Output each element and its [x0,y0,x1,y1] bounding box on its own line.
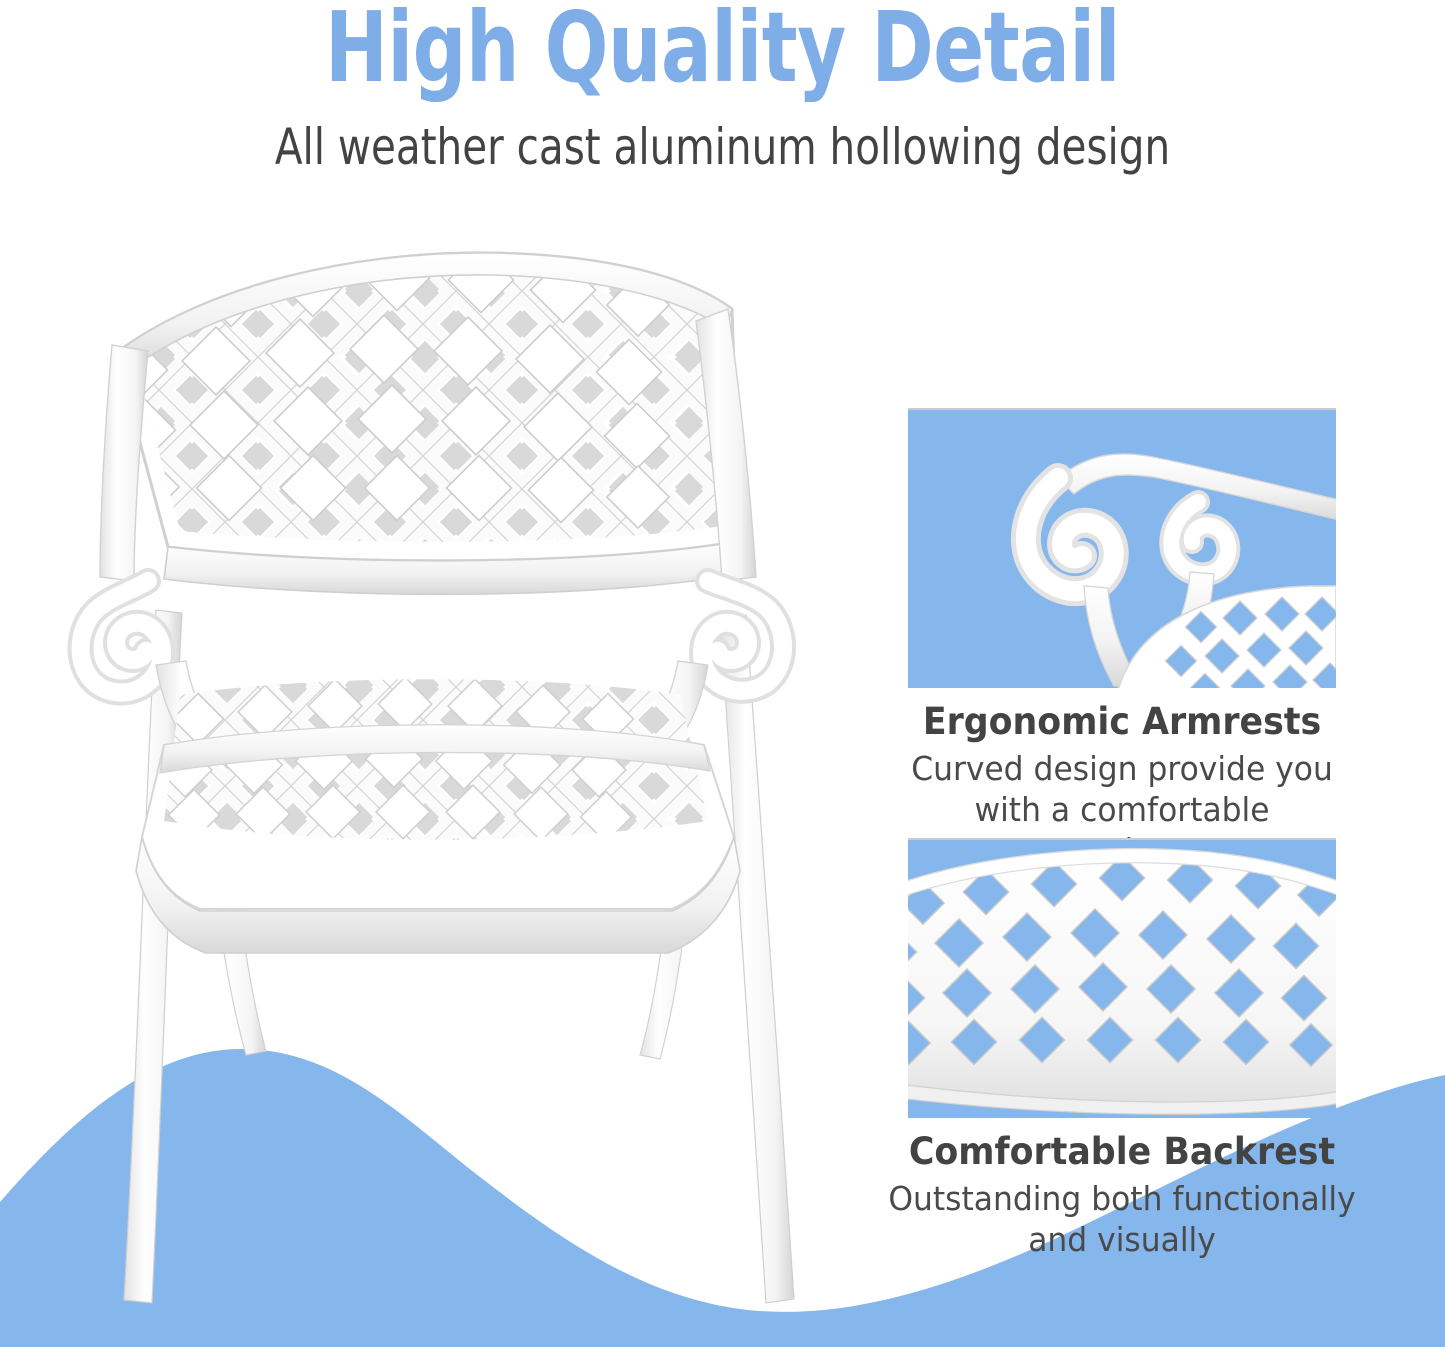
backrest-detail-illustration [908,840,1336,1118]
feature-image-armrest [908,408,1336,688]
feature-image-backrest [908,838,1336,1118]
feature-card-comfortable-backrest: Comfortable Backrest Outstanding both fu… [908,838,1336,1138]
infographic-canvas: High Quality Detail All weather cast alu… [0,0,1445,1347]
feature-title-comfortable-backrest: Comfortable Backrest [893,1130,1352,1174]
hero-chair-image [60,225,850,1335]
page-title: High Quality Detail [101,0,1344,100]
page-subtitle: All weather cast aluminum hollowing desi… [72,118,1373,176]
feature-title-ergonomic-armrests: Ergonomic Armrests [893,700,1352,744]
feature-body-comfortable-backrest: Outstanding both functionally and visual… [886,1178,1357,1260]
feature-card-ergonomic-armrests: Ergonomic Armrests Curved design provide… [908,408,1336,708]
armrest-detail-illustration [908,410,1336,688]
